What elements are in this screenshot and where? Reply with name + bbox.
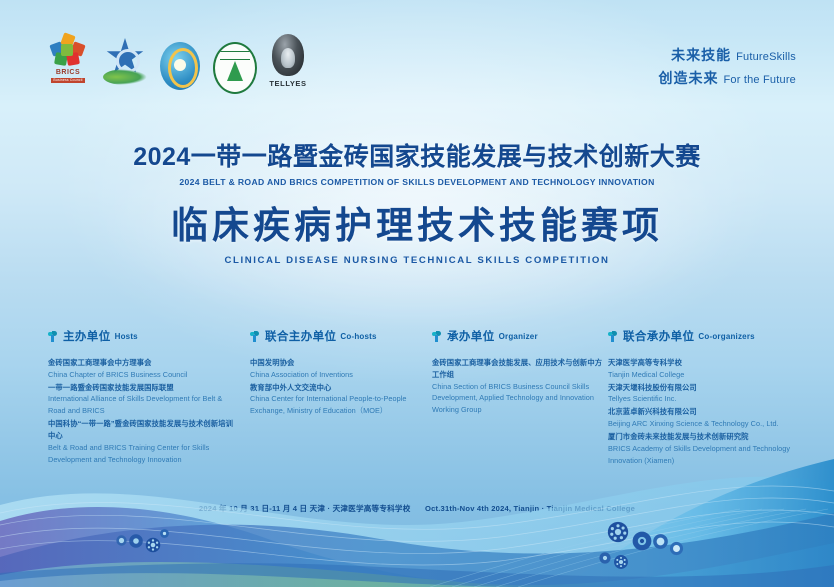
tianjin-medical-college-logo [213, 42, 255, 92]
slogan: 未来技能FutureSkills 创造未来For the Future [659, 44, 797, 90]
org-label-en: Organizer [499, 332, 538, 341]
org-label-cn: 联合主办单位 [265, 328, 336, 344]
org-column-header: 联合主办单位 Co-hosts [250, 328, 430, 344]
org-item-en: China Section of BRICS Business Council … [432, 381, 607, 416]
org-item-en: International Alliance of Skills Develop… [48, 393, 238, 417]
main-title-cn: 2024一带一路暨金砖国家技能发展与技术创新大赛 [0, 144, 834, 172]
org-label-cn: 承办单位 [447, 328, 495, 344]
org-column-header: 承办单位 Organizer [432, 328, 607, 344]
org-item-cn: 教育部中外人文交流中心 [250, 382, 430, 394]
org-item: 天津天堰科技股份有限公司 Tellyes Scientific Inc. [608, 382, 803, 406]
sprout-marker-icon [48, 331, 59, 342]
org-column-organizer: 承办单位 Organizer 金砖国家工商理事会技能发展、应用技术与创新中方工作… [432, 328, 607, 417]
international-alliance-logo [101, 36, 149, 92]
event-title-en: CLINICAL DISEASE NURSING TECHNICAL SKILL… [0, 255, 834, 266]
brics-mark-icon [51, 34, 85, 67]
slogan-line-1-cn: 未来技能 [671, 47, 731, 63]
leaf-swoosh-icon [103, 69, 147, 85]
org-item-cn: 厦门市金砖未来技能发展与技术创新研究院 [608, 431, 803, 443]
org-item-en: China Association of Inventions [250, 369, 430, 381]
org-column-header: 主办单位 Hosts [48, 328, 238, 344]
org-column-hosts: 主办单位 Hosts 金砖国家工商理事会中方理事会 China Chapter … [48, 328, 238, 466]
org-item: 金砖国家工商理事会中方理事会 China Chapter of BRICS Bu… [48, 357, 238, 381]
tellyes-logo-text: TELLYES [269, 79, 306, 88]
slogan-line-1: 未来技能FutureSkills [659, 44, 797, 67]
org-item-cn: 金砖国家工商理事会中方理事会 [48, 357, 238, 369]
org-item: 北京蓝卓新兴科技有限公司 Beijing ARC Xinxing Science… [608, 406, 803, 430]
wave-decoration [0, 447, 834, 587]
slogan-line-2-cn: 创造未来 [659, 70, 719, 86]
org-label-cn: 联合承办单位 [623, 328, 694, 344]
org-item: 一带一路暨金砖国家技能发展国际联盟 International Alliance… [48, 382, 238, 417]
sprout-marker-icon [250, 331, 261, 342]
event-title-cn: 临床疾病护理技术技能赛项 [0, 205, 834, 248]
college-emblem-icon [213, 42, 257, 94]
org-label-en: Co-organizers [698, 332, 754, 341]
brics-logo-text: BRICS [56, 69, 80, 76]
brics-logo-subtext: Business Council [51, 78, 84, 83]
org-label-en: Hosts [115, 332, 138, 341]
org-item-en: Tianjin Medical College [608, 369, 803, 381]
org-item: 天津医学高等专科学校 Tianjin Medical College [608, 357, 803, 381]
org-item-cn: 北京蓝卓新兴科技有限公司 [608, 406, 803, 418]
main-title-en: 2024 BELT & ROAD AND BRICS COMPETITION O… [0, 177, 834, 187]
org-item-en: China Center for International People-to… [250, 393, 430, 417]
tellyes-logo: TELLYES [266, 34, 310, 92]
org-item: 中国发明协会 China Association of Inventions [250, 357, 430, 381]
org-column-header: 联合承办单位 Co-organizers [608, 328, 803, 344]
brics-business-council-logo: BRICS Business Council [46, 34, 90, 92]
sprout-marker-icon [432, 331, 443, 342]
org-item-cn: 中国科协“一带一路”暨金砖国家技能发展与技术创新培训中心 [48, 418, 238, 442]
org-item: 教育部中外人文交流中心 China Center for Internation… [250, 382, 430, 417]
slogan-line-2-en: For the Future [724, 74, 797, 86]
slogan-line-2: 创造未来For the Future [659, 67, 797, 90]
sprout-marker-icon [608, 331, 619, 342]
org-label-cn: 主办单位 [63, 328, 111, 344]
org-item-en: Beijing ARC Xinxing Science & Technology… [608, 418, 803, 430]
poster-banner: BRICS Business Council TELLYES 未来技能Futur… [0, 0, 834, 587]
org-item-cn: 天津天堰科技股份有限公司 [608, 382, 803, 394]
org-label-en: Co-hosts [340, 332, 376, 341]
org-item: 金砖国家工商理事会技能发展、应用技术与创新中方工作组 China Section… [432, 357, 607, 416]
org-item-en: Tellyes Scientific Inc. [608, 393, 803, 405]
title-block: 2024一带一路暨金砖国家技能发展与技术创新大赛 2024 BELT & ROA… [0, 144, 834, 266]
org-item-cn: 天津医学高等专科学校 [608, 357, 803, 369]
tellyes-mark-icon [272, 34, 304, 76]
org-item-cn: 金砖国家工商理事会技能发展、应用技术与创新中方工作组 [432, 357, 607, 381]
logo-strip: BRICS Business Council TELLYES [46, 34, 310, 92]
org-item-cn: 一带一路暨金砖国家技能发展国际联盟 [48, 382, 238, 394]
org-column-co-hosts: 联合主办单位 Co-hosts 中国发明协会 China Association… [250, 328, 430, 418]
slogan-line-1-en: FutureSkills [736, 51, 796, 63]
org-item-en: China Chapter of BRICS Business Council [48, 369, 238, 381]
emblem-circle-icon [160, 42, 200, 90]
wave-svg [0, 447, 834, 587]
org-item-cn: 中国发明协会 [250, 357, 430, 369]
china-association-inventions-logo [160, 42, 202, 92]
